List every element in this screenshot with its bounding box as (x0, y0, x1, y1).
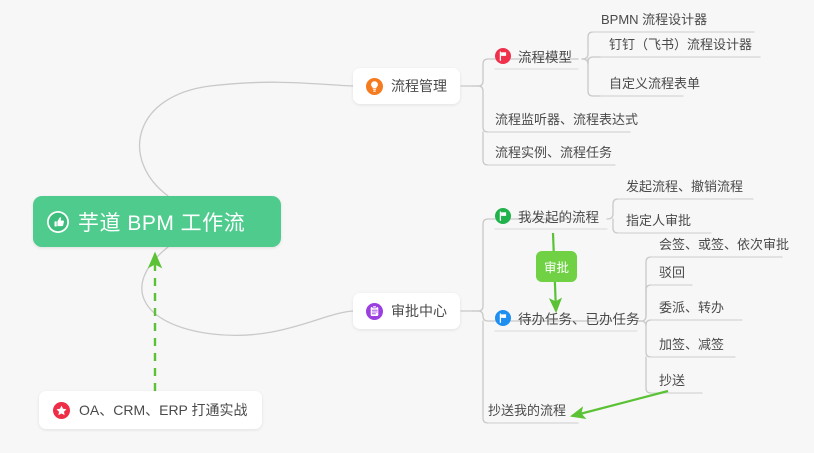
root-node[interactable]: 芋道 BPM 工作流 (33, 196, 281, 247)
edge-root-to-process-management (140, 82, 353, 196)
leaf-assignee-approval[interactable]: 指定人审批 (626, 209, 691, 233)
topic-label: 我发起的流程 (518, 206, 599, 226)
lightbulb-icon (366, 78, 383, 95)
star-icon (53, 402, 70, 419)
leaf-delegate-transfer[interactable]: 委派、转办 (659, 296, 724, 320)
leaf-process-listener-expression[interactable]: 流程监听器、流程表达式 (495, 108, 638, 132)
leaf-dingtalk-feishu-designer[interactable]: 钉钉（飞书）流程设计器 (609, 33, 752, 57)
branch-label: 审批中心 (391, 301, 447, 321)
leaf-start-cancel-process[interactable]: 发起流程、撤销流程 (626, 175, 743, 199)
topic-my-initiated-flow[interactable]: 我发起的流程 (495, 203, 599, 229)
branch-label: 流程管理 (391, 76, 447, 96)
topic-todo-done-tasks[interactable]: 待办任务、已办任务 (495, 305, 640, 331)
leaf-countersign-orsign-sequential[interactable]: 会签、或签、依次审批 (659, 233, 789, 257)
topic-process-model[interactable]: 流程模型 (495, 43, 572, 69)
mindmap-canvas: 芋道 BPM 工作流 流程管理 流程模型 BPMN 流程设计器 钉钉（飞书）流程… (0, 0, 814, 453)
leaf-cc[interactable]: 抄送 (659, 369, 685, 393)
integration-card[interactable]: OA、CRM、ERP 打通实战 (39, 391, 262, 429)
flag-icon (495, 310, 511, 326)
thumbs-up-icon (47, 211, 69, 233)
flag-icon (495, 48, 511, 64)
leaf-process-instance-task[interactable]: 流程实例、流程任务 (495, 141, 612, 165)
leaf-bpmn-designer[interactable]: BPMN 流程设计器 (601, 8, 707, 32)
leaf-cc-my-flow[interactable]: 抄送我的流程 (488, 399, 566, 423)
leaf-custom-process-form[interactable]: 自定义流程表单 (609, 72, 700, 96)
cc-flow-arrow (572, 391, 668, 416)
branch-node-process-management[interactable]: 流程管理 (353, 68, 460, 104)
edge-root-to-approval-center (142, 247, 353, 335)
integration-card-label: OA、CRM、ERP 打通实战 (79, 400, 248, 420)
topic-label: 待办任务、已办任务 (518, 308, 640, 328)
leaf-add-remove-sign[interactable]: 加签、减签 (659, 333, 724, 357)
approval-callout-label: 审批 (544, 257, 569, 276)
approval-callout[interactable]: 审批 (536, 251, 577, 282)
branch-node-approval-center[interactable]: 审批中心 (353, 293, 460, 329)
clipboard-icon (366, 303, 383, 320)
edge-todo-leaf-3 (637, 320, 742, 326)
leaf-reject[interactable]: 驳回 (659, 261, 685, 285)
edge-pmodel-leaf-2 (582, 57, 760, 64)
flag-icon (495, 208, 511, 224)
root-label: 芋道 BPM 工作流 (78, 207, 245, 237)
topic-label: 流程模型 (518, 46, 572, 66)
